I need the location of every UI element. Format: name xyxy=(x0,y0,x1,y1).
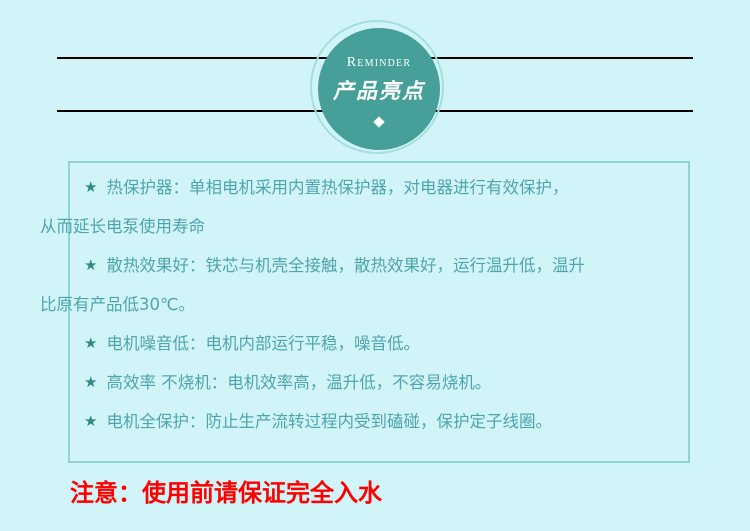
features-list: ★ 热保护器：单相电机采用内置热保护器，对电器进行有效保护， 从而延长电泵使用寿… xyxy=(74,168,686,441)
star-icon: ★ xyxy=(74,402,106,441)
list-item-continuation: 从而延长电泵使用寿命 xyxy=(74,207,686,246)
list-item: ★ 高效率 不烧机：电机效率高，温升低，不容易烧机。 xyxy=(74,363,686,402)
feature-text-line1: 电机噪音低：电机内部运行平稳，噪音低。 xyxy=(106,324,686,363)
star-icon: ★ xyxy=(74,324,106,363)
list-item: ★ 电机噪音低：电机内部运行平稳，噪音低。 xyxy=(74,324,686,363)
feature-text-line2: 从而延长电泵使用寿命 xyxy=(40,207,686,246)
feature-text-line2: 比原有产品低30℃。 xyxy=(40,285,686,324)
feature-text-line1: 热保护器：单相电机采用内置热保护器，对电器进行有效保护， xyxy=(106,168,686,207)
badge-content: Reminder 产品亮点 xyxy=(318,28,440,150)
badge-eyebrow-label: Reminder xyxy=(347,56,412,70)
list-item-continuation: 比原有产品低30℃。 xyxy=(74,285,686,324)
feature-text-line1: 电机全保护：防止生产流转过程内受到磕碰，保护定子线圈。 xyxy=(106,402,686,441)
product-highlights-page: Reminder 产品亮点 ★ 热保护器：单相电机采用内置热保护器，对电器进行有… xyxy=(0,0,750,531)
reminder-badge: Reminder 产品亮点 xyxy=(310,20,448,158)
star-icon: ★ xyxy=(74,168,106,207)
badge-circle: Reminder 产品亮点 xyxy=(318,28,440,150)
badge-title-label: 产品亮点 xyxy=(333,81,425,102)
list-item: ★ 散热效果好：铁芯与机壳全接触，散热效果好，运行温升低，温升 xyxy=(74,246,686,285)
star-icon: ★ xyxy=(74,363,106,402)
list-item: ★ 热保护器：单相电机采用内置热保护器，对电器进行有效保护， xyxy=(74,168,686,207)
notice-text: 注意：使用前请保证完全入水 xyxy=(70,478,382,508)
feature-text-line1: 高效率 不烧机：电机效率高，温升低，不容易烧机。 xyxy=(106,363,686,402)
star-icon: ★ xyxy=(74,246,106,285)
feature-text-line1: 散热效果好：铁芯与机壳全接触，散热效果好，运行温升低，温升 xyxy=(106,246,686,285)
list-item: ★ 电机全保护：防止生产流转过程内受到磕碰，保护定子线圈。 xyxy=(74,402,686,441)
diamond-icon xyxy=(373,116,384,127)
